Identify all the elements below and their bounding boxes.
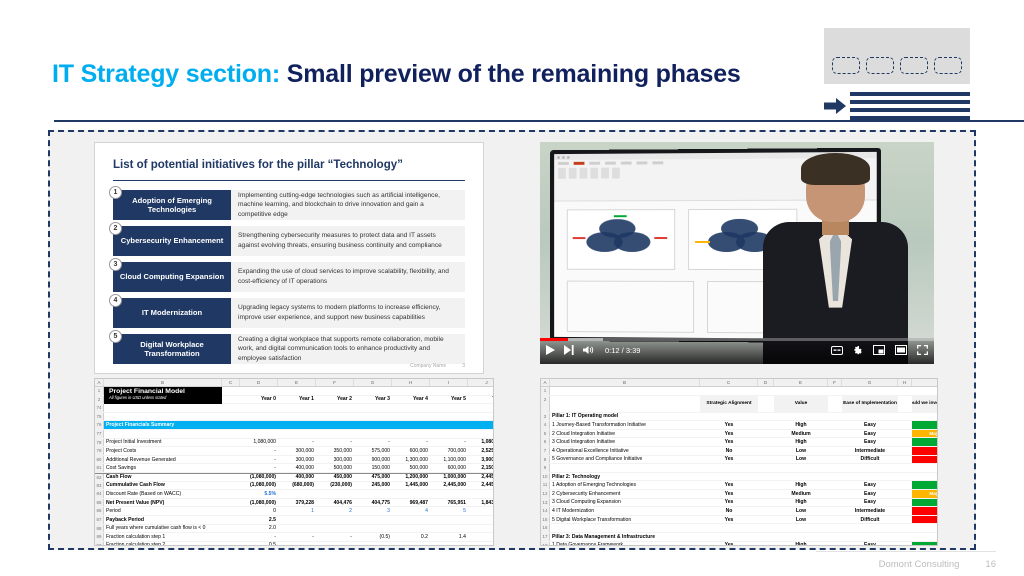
spreadsheet-cell[interactable] [758, 421, 774, 429]
spreadsheet-cell[interactable]: High [774, 481, 828, 489]
spreadsheet-cell[interactable]: No [700, 447, 758, 455]
spreadsheet-cell[interactable]: (1,080,000) [222, 474, 278, 481]
spreadsheet-cell[interactable]: 2,445,000 [468, 474, 493, 481]
spreadsheet-cell[interactable] [898, 507, 912, 515]
spreadsheet-cell[interactable]: 0.2 [392, 533, 430, 541]
investment-verdict-badge[interactable]: Maybe Later [912, 430, 937, 438]
spreadsheet-cell[interactable]: Payback Period [104, 516, 222, 524]
column-header-b[interactable]: B [104, 379, 222, 386]
fullscreen-icon[interactable] [917, 345, 928, 355]
spreadsheet-cell[interactable] [278, 525, 316, 533]
spreadsheet-cell[interactable] [354, 490, 392, 498]
spreadsheet-cell[interactable]: High [774, 542, 828, 546]
spreadsheet-cell[interactable]: 0 [222, 507, 278, 515]
spreadsheet-cell[interactable] [316, 516, 354, 524]
spreadsheet-cell[interactable] [468, 516, 493, 524]
spreadsheet-cell[interactable]: Yes [700, 430, 758, 438]
investment-verdict-badge[interactable]: No [912, 456, 937, 464]
spreadsheet-cell[interactable] [104, 430, 222, 438]
spreadsheet-cell[interactable]: (230,000) [316, 482, 354, 490]
spreadsheet-cell[interactable]: 700,000 [430, 447, 468, 455]
column-header-g[interactable]: G [354, 379, 392, 386]
spreadsheet-cell[interactable]: Yes [700, 542, 758, 546]
spreadsheet-cell[interactable] [828, 516, 842, 524]
spreadsheet-cell[interactable]: 765,951 [430, 499, 468, 507]
spreadsheet-cell[interactable] [758, 396, 774, 412]
spreadsheet-cell[interactable]: 1,100,000 [430, 456, 468, 464]
column-header-e[interactable]: E [774, 379, 828, 386]
spreadsheet-cell[interactable]: Intermediate [842, 447, 898, 455]
spreadsheet-cell[interactable] [278, 387, 316, 395]
row-number[interactable]: 10 [541, 473, 550, 481]
spreadsheet-cell[interactable]: - [222, 447, 278, 455]
spreadsheet-cell[interactable]: 600,000 [430, 464, 468, 472]
spreadsheet-cell[interactable]: 2 Cybersecurity Enhancement [550, 490, 700, 498]
row-number[interactable]: 14 [541, 507, 550, 515]
spreadsheet-cell[interactable] [222, 387, 240, 395]
spreadsheet-cell[interactable]: (1,080,000) [222, 499, 278, 507]
column-header-b[interactable]: B [550, 379, 700, 386]
spreadsheet-cell[interactable] [354, 525, 392, 533]
spreadsheet-cell[interactable] [468, 525, 493, 533]
spreadsheet-cell[interactable] [828, 456, 842, 464]
investment-verdict-badge[interactable]: No [912, 516, 937, 524]
spreadsheet-cell[interactable]: 900,000 [354, 456, 392, 464]
spreadsheet-cell[interactable] [392, 387, 430, 395]
spreadsheet-cell[interactable]: Total [468, 396, 493, 404]
spreadsheet-cell[interactable]: Fraction calculation step 2 [104, 542, 222, 545]
spreadsheet-cell[interactable]: Easy [842, 430, 898, 438]
gear-icon[interactable] [853, 345, 863, 355]
row-number[interactable]: 13 [541, 499, 550, 507]
spreadsheet-cell[interactable]: 2.0 [222, 525, 278, 533]
spreadsheet-cell[interactable]: - [354, 439, 392, 447]
window-dot-icon [567, 155, 570, 158]
spreadsheet-cell[interactable]: Year 5 [430, 396, 468, 404]
spreadsheet-cell[interactable]: 3 [354, 507, 392, 515]
spreadsheet-cell[interactable]: 245,000 [354, 482, 392, 490]
row-number[interactable]: 86 [95, 507, 104, 515]
row-number[interactable]: 2 [541, 396, 550, 412]
spreadsheet-cell[interactable] [468, 387, 493, 395]
spreadsheet-cell[interactable] [468, 542, 493, 545]
spreadsheet-cell[interactable] [550, 396, 700, 412]
spreadsheet-cell[interactable] [758, 499, 774, 507]
spreadsheet-cell[interactable] [828, 396, 842, 412]
spreadsheet-cell[interactable] [828, 421, 842, 429]
spreadsheet-cell[interactable] [550, 464, 700, 472]
spreadsheet-cell[interactable] [758, 516, 774, 524]
spreadsheet-cell[interactable]: Difficult [842, 456, 898, 464]
spreadsheet-cell[interactable]: Yes [700, 490, 758, 498]
spreadsheet-cell[interactable]: Intermediate [842, 507, 898, 515]
spreadsheet-cell[interactable]: 600,000 [392, 447, 430, 455]
spreadsheet-cell[interactable] [354, 387, 392, 395]
spreadsheet-cell[interactable]: 300,000 [316, 456, 354, 464]
spreadsheet-cell[interactable]: 3,900,000 [468, 456, 493, 464]
spreadsheet-cell[interactable]: - [430, 439, 468, 447]
spreadsheet-cell[interactable] [430, 516, 468, 524]
spreadsheet-cell[interactable] [104, 404, 222, 412]
column-header-i[interactable]: I [912, 379, 937, 386]
spreadsheet-cell[interactable] [898, 481, 912, 489]
row-number[interactable]: 6 [541, 438, 550, 446]
row-number[interactable]: 1 [541, 387, 550, 395]
spreadsheet-cell[interactable] [316, 542, 354, 545]
spreadsheet-cell[interactable] [828, 507, 842, 515]
investment-verdict-badge[interactable]: Yes [912, 438, 937, 446]
spreadsheet-cell[interactable] [758, 430, 774, 438]
row-number[interactable]: 81 [95, 464, 104, 472]
column-header-e[interactable]: E [278, 379, 316, 386]
spreadsheet-cell[interactable]: 300,000 [278, 447, 316, 455]
spreadsheet-cell[interactable] [240, 387, 278, 395]
pillar-title[interactable]: Pillar 1: IT Operating model [550, 413, 700, 421]
spreadsheet-cell[interactable]: Medium [774, 430, 828, 438]
spreadsheet-cell[interactable] [430, 387, 468, 395]
spreadsheet-cell[interactable] [354, 516, 392, 524]
spreadsheet-cell[interactable]: 400,000 [278, 474, 316, 481]
column-header-h[interactable]: H [392, 379, 430, 386]
spreadsheet-cell[interactable] [898, 542, 912, 546]
spreadsheet-cell[interactable] [468, 533, 493, 541]
spreadsheet-cell[interactable]: 300,000 [278, 456, 316, 464]
row-number[interactable]: 9 [541, 464, 550, 472]
column-header-c[interactable]: C [700, 379, 758, 386]
spreadsheet-cell[interactable]: Yes [700, 438, 758, 446]
spreadsheet-cell[interactable] [828, 430, 842, 438]
row-number[interactable]: 12 [541, 490, 550, 498]
column-header-f[interactable]: F [828, 379, 842, 386]
spreadsheet-cell[interactable] [316, 490, 354, 498]
spreadsheet-cell[interactable]: Cash Flow [104, 474, 222, 481]
spreadsheet-cell[interactable]: 4 [392, 507, 430, 515]
spreadsheet-cell[interactable] [898, 499, 912, 507]
spreadsheet-cell[interactable]: Year 4 [392, 396, 430, 404]
spreadsheet-cell[interactable]: 5 [430, 507, 468, 515]
spreadsheet-cell[interactable]: - [316, 533, 354, 541]
spreadsheet-cell[interactable]: 575,000 [354, 447, 392, 455]
row-number[interactable]: 84 [95, 490, 104, 498]
spreadsheet-cell[interactable] [828, 481, 842, 489]
spreadsheet-cell[interactable]: Low [774, 516, 828, 524]
spreadsheet-cell[interactable] [758, 447, 774, 455]
spreadsheet-cell[interactable]: 5 Digital Workplace Transformation [550, 516, 700, 524]
spreadsheet-cell[interactable]: (1,080,000) [222, 482, 278, 490]
slide-preview-panel[interactable]: List of potential initiatives for the pi… [94, 142, 484, 374]
spreadsheet-cell[interactable] [392, 525, 430, 533]
spreadsheet-cell[interactable]: Yes [700, 481, 758, 489]
row-number[interactable]: 87 [95, 516, 104, 524]
spreadsheet-cell[interactable] [898, 396, 912, 412]
spreadsheet-cell[interactable]: Low [774, 507, 828, 515]
spreadsheet-cell[interactable]: High [774, 421, 828, 429]
spreadsheet-cell[interactable]: 2 Cloud Integration Initiative [550, 430, 700, 438]
spreadsheet-cell[interactable] [758, 542, 774, 546]
spreadsheet-cell[interactable] [828, 490, 842, 498]
spreadsheet-cell[interactable]: - [278, 439, 316, 447]
criteria-header[interactable]: Ease of Implementation [842, 396, 898, 412]
spreadsheet-cell[interactable]: Easy [842, 542, 898, 546]
spreadsheet-cell[interactable]: - [392, 439, 430, 447]
investment-verdict-badge[interactable]: Maybe Later [912, 490, 937, 498]
row-number[interactable]: 17 [541, 533, 550, 541]
spreadsheet-cell[interactable]: 0.5 [222, 542, 278, 545]
spreadsheet-cell[interactable] [758, 456, 774, 464]
spreadsheet-cell[interactable]: Cummulative Cash Flow [104, 482, 222, 490]
spreadsheet-cell[interactable]: Easy [842, 499, 898, 507]
spreadsheet-cell[interactable]: Year 2 [316, 396, 354, 404]
spreadsheet-cell[interactable]: 500,000 [316, 464, 354, 472]
spreadsheet-cell[interactable] [758, 507, 774, 515]
spreadsheet-cell[interactable] [430, 525, 468, 533]
spreadsheet-cell[interactable] [758, 481, 774, 489]
spreadsheet-cell[interactable] [898, 490, 912, 498]
spreadsheet-cell[interactable]: 2,150,000 [468, 464, 493, 472]
spreadsheet-cell[interactable]: 1,843,917 [468, 499, 493, 507]
spreadsheet-cell[interactable]: 1 Adoption of Emerging Technologies [550, 481, 700, 489]
spreadsheet-cell[interactable]: 404,476 [316, 499, 354, 507]
spreadsheet-cell[interactable]: Year 0 [240, 396, 278, 404]
spreadsheet-cell[interactable]: Low [774, 447, 828, 455]
spreadsheet-cell[interactable]: Year 1 [278, 396, 316, 404]
spreadsheet-cell[interactable] [898, 447, 912, 455]
spreadsheet-cell[interactable]: 1,080,000 [468, 439, 493, 447]
spreadsheet-cell[interactable]: 5 Governance and Compliance Initiative [550, 456, 700, 464]
spreadsheet-cell[interactable]: 150,000 [354, 464, 392, 472]
spreadsheet-cell[interactable] [316, 387, 354, 395]
spreadsheet-cell[interactable] [468, 507, 493, 515]
theater-mode-icon[interactable] [895, 345, 907, 355]
financial-model-panel[interactable]: ABCDEFGHIJ Project Financial Model All f… [94, 378, 494, 546]
prioritization-spreadsheet[interactable]: ABCDEFGHI 12Strategic AlignmentValueEase… [541, 379, 937, 545]
video-progress-bar[interactable] [540, 338, 934, 341]
column-header-d[interactable]: D [240, 379, 278, 386]
investment-verdict-badge[interactable]: Yes [912, 421, 937, 429]
spreadsheet-cell[interactable] [468, 490, 493, 498]
investment-verdict-badge[interactable]: No [912, 507, 937, 515]
investment-verdict-badge[interactable]: Yes [912, 542, 937, 546]
row-number[interactable]: 4 [541, 421, 550, 429]
spreadsheet-row: 63 Cloud Integration InitiativeYesHighEa… [541, 438, 937, 447]
spreadsheet-cell[interactable]: 1,300,000 [392, 456, 430, 464]
row-number[interactable]: 5 [541, 430, 550, 438]
spreadsheet-cell[interactable] [222, 396, 240, 404]
spreadsheet-cell[interactable] [354, 542, 392, 545]
row-number[interactable]: 83 [95, 482, 104, 490]
row-number[interactable]: 75 [95, 413, 104, 421]
spreadsheet-cell[interactable]: 3 Cloud Computing Expansion [550, 499, 700, 507]
spreadsheet-cell[interactable] [898, 430, 912, 438]
column-header-h[interactable]: H [898, 379, 912, 386]
row-number[interactable]: 16 [541, 524, 550, 532]
spreadsheet-cell[interactable]: - [222, 533, 278, 541]
investment-verdict-badge[interactable]: Yes [912, 499, 937, 507]
spreadsheet-cell[interactable]: Low [774, 456, 828, 464]
financial-spreadsheet[interactable]: ABCDEFGHIJ Project Financial Model All f… [95, 379, 493, 545]
row-number[interactable]: 3 [541, 413, 550, 421]
row-number[interactable]: 80 [95, 456, 104, 464]
spreadsheet-cell[interactable]: 1,200,000 [392, 474, 430, 481]
column-header-j[interactable]: J [468, 379, 493, 386]
pillar-title[interactable]: Pillar 2: Technology [550, 473, 700, 481]
row-number[interactable]: 76 [95, 421, 104, 429]
spreadsheet-cell[interactable]: 350,000 [316, 447, 354, 455]
prioritization-panel[interactable]: ABCDEFGHI 12Strategic AlignmentValueEase… [540, 378, 938, 546]
spreadsheet-cell[interactable] [278, 542, 316, 545]
column-header-a[interactable]: A [541, 379, 550, 386]
spreadsheet-cell[interactable] [316, 525, 354, 533]
spreadsheet-cell[interactable] [392, 542, 430, 545]
spreadsheet-cell[interactable]: Net Present Value (NPV) [104, 499, 222, 507]
spreadsheet-cell[interactable]: - [278, 533, 316, 541]
next-track-icon[interactable] [564, 345, 574, 355]
spreadsheet-cell[interactable] [392, 490, 430, 498]
volume-icon[interactable] [583, 345, 594, 355]
spreadsheet-cell[interactable]: 2,445,000 [468, 482, 493, 490]
spreadsheet-cell[interactable]: Discount Rate (Based on WACC) [104, 490, 222, 498]
spreadsheet-cell[interactable]: 1,000,000 [430, 474, 468, 481]
spreadsheet-cell[interactable] [550, 524, 700, 532]
row-number[interactable]: 8 [541, 456, 550, 464]
spreadsheet-cell[interactable]: 1,080,000 [222, 439, 278, 447]
spreadsheet-cell[interactable]: 1 [278, 507, 316, 515]
spreadsheet-cell[interactable]: 2,525,000 [468, 447, 493, 455]
row-number[interactable]: 7 [541, 447, 550, 455]
spreadsheet-cell[interactable]: Project Costs [104, 447, 222, 455]
spreadsheet-cell[interactable]: - [316, 439, 354, 447]
spreadsheet-cell[interactable]: Period [104, 507, 222, 515]
spreadsheet-cell[interactable] [392, 516, 430, 524]
spreadsheet-cell[interactable]: Full years where cumulative cash flow is… [104, 525, 222, 533]
column-header-c[interactable]: C [222, 379, 240, 386]
spreadsheet-cell[interactable] [898, 456, 912, 464]
spreadsheet-cell[interactable]: 2.5 [222, 516, 278, 524]
miniplayer-icon[interactable] [873, 345, 885, 355]
column-header-g[interactable]: G [842, 379, 898, 386]
spreadsheet-cell[interactable]: Easy [842, 438, 898, 446]
spreadsheet-cell[interactable] [828, 438, 842, 446]
spreadsheet-cell[interactable] [430, 490, 468, 498]
spreadsheet-cell[interactable] [278, 516, 316, 524]
row-number[interactable]: 82 [95, 474, 104, 481]
spreadsheet-cell[interactable] [104, 413, 222, 421]
criteria-header[interactable]: Strategic Alignment [700, 396, 758, 412]
spreadsheet-cell[interactable]: 4 IT Modernization [550, 507, 700, 515]
spreadsheet-cell[interactable]: 500,000 [392, 464, 430, 472]
criteria-header[interactable]: Value [774, 396, 828, 412]
spreadsheet-cell[interactable]: 404,775 [354, 499, 392, 507]
spreadsheet-cell[interactable]: Easy [842, 421, 898, 429]
row-number[interactable]: 74 [95, 404, 104, 412]
spreadsheet-cell[interactable] [898, 516, 912, 524]
spreadsheet-cell[interactable] [828, 542, 842, 546]
spreadsheet-cell[interactable] [758, 490, 774, 498]
spreadsheet-cell[interactable]: 379,228 [278, 499, 316, 507]
column-header-f[interactable]: F [316, 379, 354, 386]
spreadsheet-cell[interactable]: Additional Revenue Generated [104, 456, 222, 464]
spreadsheet-cell[interactable]: - [222, 456, 278, 464]
row-number[interactable]: 89 [95, 533, 104, 541]
spreadsheet-cell[interactable] [828, 447, 842, 455]
criteria-header[interactable]: Should we invest in this initiative? [912, 396, 937, 412]
spreadsheet-cell[interactable]: Cost Savings [104, 464, 222, 472]
spreadsheet-cell[interactable]: Yes [700, 421, 758, 429]
video-controls-bar[interactable]: 0:12 / 3:39 [540, 338, 934, 364]
spreadsheet-cell[interactable] [430, 542, 468, 545]
row-number[interactable]: 90 [95, 542, 104, 545]
spreadsheet-cell[interactable]: No [700, 507, 758, 515]
spreadsheet-cell[interactable]: 2,445,000 [430, 482, 468, 490]
spreadsheet-cell[interactable]: 475,000 [354, 474, 392, 481]
spreadsheet-cell[interactable]: Fraction calculation step 1 [104, 533, 222, 541]
column-header-a[interactable]: A [95, 379, 104, 386]
row-number[interactable]: 2 [95, 396, 104, 404]
spreadsheet-cell[interactable] [898, 438, 912, 446]
spreadsheet-cell[interactable]: - [222, 464, 278, 472]
spreadsheet-cell[interactable]: 5.5% [222, 490, 278, 498]
spreadsheet-cell[interactable]: 1 Data Governance Framework [550, 542, 700, 546]
spreadsheet-cell[interactable]: 969,487 [392, 499, 430, 507]
spreadsheet-cell[interactable]: 1 Journey-Based Transformation Initiativ… [550, 421, 700, 429]
spreadsheet-cell[interactable]: Medium [774, 490, 828, 498]
investment-verdict-badge[interactable]: No [912, 447, 937, 455]
spreadsheet-cell[interactable]: (680,000) [278, 482, 316, 490]
row-number[interactable]: 77 [95, 430, 104, 438]
column-header-i[interactable]: I [430, 379, 468, 386]
spreadsheet-cell[interactable]: High [774, 499, 828, 507]
row-number[interactable]: 79 [95, 447, 104, 455]
spreadsheet-cell[interactable]: 450,000 [316, 474, 354, 481]
row-number[interactable]: 18 [541, 542, 550, 546]
row-number[interactable]: 88 [95, 525, 104, 533]
spreadsheet-cell[interactable]: Yes [700, 499, 758, 507]
spreadsheet-cell[interactable]: Project Initial Investment [104, 439, 222, 447]
closed-captions-icon[interactable] [831, 346, 843, 355]
spreadsheet-cell[interactable]: 1,445,000 [392, 482, 430, 490]
video-player-panel[interactable]: 0:12 / 3:39 [540, 142, 934, 364]
spreadsheet-cell[interactable]: High [774, 438, 828, 446]
spreadsheet-cell[interactable] [828, 499, 842, 507]
financial-section-title[interactable]: Project Financials Summary [104, 421, 493, 429]
row-number[interactable]: 11 [541, 481, 550, 489]
spreadsheet-cell[interactable]: Year 3 [354, 396, 392, 404]
spreadsheet-cell[interactable] [278, 490, 316, 498]
spreadsheet-cell[interactable]: 4 Operational Excellence Initiative [550, 447, 700, 455]
spreadsheet-cell[interactable]: 1.4 [430, 533, 468, 541]
spreadsheet-cell[interactable]: Difficult [842, 516, 898, 524]
spreadsheet-cell[interactable]: 3 Cloud Integration Initiative [550, 438, 700, 446]
row-number[interactable]: 78 [95, 439, 104, 447]
play-icon[interactable] [546, 345, 555, 355]
spreadsheet-cell[interactable]: Easy [842, 490, 898, 498]
row-number[interactable]: 1 [95, 387, 104, 395]
spreadsheet-cell[interactable] [550, 387, 700, 395]
spreadsheet-cell[interactable]: Yes [700, 456, 758, 464]
spreadsheet-cell[interactable]: 2 [316, 507, 354, 515]
spreadsheet-cell[interactable]: (0.5) [354, 533, 392, 541]
spreadsheet-cell[interactable]: 400,000 [278, 464, 316, 472]
spreadsheet-cell[interactable]: Yes [700, 516, 758, 524]
spreadsheet-cell[interactable] [758, 438, 774, 446]
pillar-title[interactable]: Pillar 3: Data Management & Infrastructu… [550, 533, 700, 541]
row-number[interactable]: 85 [95, 499, 104, 507]
row-number[interactable]: 15 [541, 516, 550, 524]
spreadsheet-cell[interactable]: Easy [842, 481, 898, 489]
column-header-d[interactable]: D [758, 379, 774, 386]
spreadsheet-cell[interactable] [898, 421, 912, 429]
investment-verdict-badge[interactable]: Yes [912, 481, 937, 489]
